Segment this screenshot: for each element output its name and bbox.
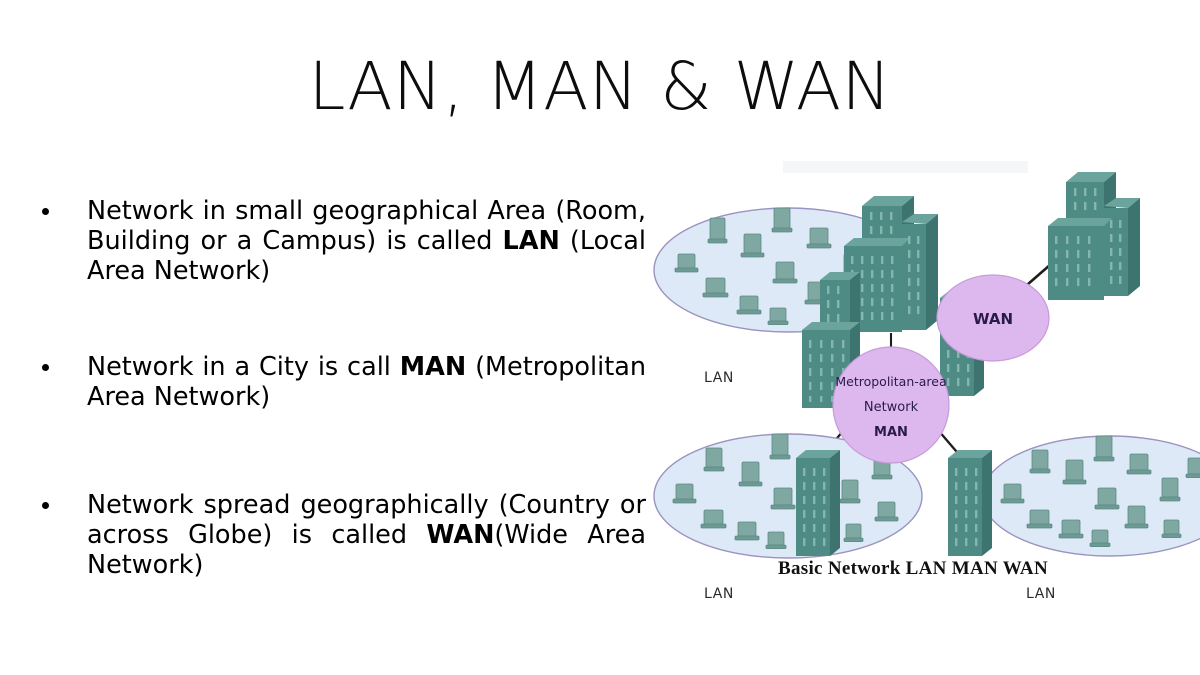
bullet-text-wan: Network spread geographically (Country o… [87, 490, 646, 580]
building-bottom-right [948, 450, 992, 556]
list-item: Network spread geographically (Country o… [34, 490, 646, 580]
network-diagram-image: WAN Metropolitan-area Network MAN LAN LA… [648, 158, 1200, 628]
man-label-line3: MAN [874, 425, 908, 440]
bullet-dot-icon [42, 364, 49, 371]
lan-label-top-left: LAN [704, 370, 734, 386]
bullet-text-before: Network in a City is call [87, 352, 400, 382]
bullet-emphasis-wan: WAN [426, 520, 494, 550]
lan-cloud-bottom-right [982, 436, 1200, 556]
building-right [1048, 172, 1140, 300]
bullet-emphasis-lan: LAN [503, 226, 560, 256]
man-cloud: Metropolitan-area Network MAN [833, 347, 949, 463]
list-item: Network in small geographical Area (Room… [34, 196, 646, 286]
watermark-artifact [783, 161, 1028, 173]
diagram-caption: Basic Network LAN MAN WAN [778, 558, 1048, 580]
bullet-dot-icon [42, 502, 49, 509]
wan-label: WAN [973, 310, 1013, 328]
list-item: Network in a City is call MAN (Metropoli… [34, 352, 646, 412]
wan-cloud: WAN [937, 275, 1049, 361]
bullet-text-man: Network in a City is call MAN (Metropoli… [87, 352, 646, 412]
bullet-dot-icon [42, 208, 49, 215]
lan-label-bottom-left: LAN [704, 586, 734, 602]
man-label-line1: Metropolitan-area [835, 374, 946, 389]
man-label-line2: Network [864, 400, 919, 415]
building-bottom-left [796, 450, 840, 556]
bullet-list: Network in small geographical Area (Room… [34, 196, 646, 626]
bullet-text-lan: Network in small geographical Area (Room… [87, 196, 646, 286]
page-title: LAN, MAN & WAN [0, 48, 1200, 126]
lan-label-bottom-right: LAN [1026, 586, 1056, 602]
bullet-emphasis-man: MAN [400, 352, 466, 382]
